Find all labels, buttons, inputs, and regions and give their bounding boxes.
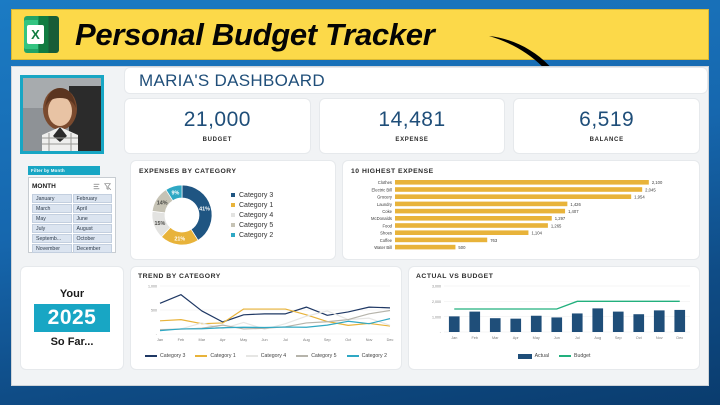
slicer-item-april[interactable]: April xyxy=(73,204,113,213)
legend-line xyxy=(195,355,207,357)
legend-line xyxy=(559,355,571,357)
svg-text:Mar: Mar xyxy=(492,336,499,340)
slicer-item-february[interactable]: February xyxy=(73,194,113,203)
combo-chart: -1,0002,0003,000JanFebMarAprMayJunJulAug… xyxy=(416,280,696,352)
legend-label: Category 4 xyxy=(239,212,273,219)
svg-text:21%: 21% xyxy=(174,237,185,243)
svg-text:2,100: 2,100 xyxy=(652,180,663,185)
kpi-label-budget: BUDGET xyxy=(203,137,233,143)
legend-label: Category 2 xyxy=(362,353,387,359)
slicer-item-january[interactable]: January xyxy=(32,194,72,203)
svg-text:3,000: 3,000 xyxy=(432,285,441,289)
legend-item-category-4: Category 4 xyxy=(231,212,273,219)
avb-legend: Actual Budget xyxy=(416,353,692,359)
kpi-value-balance: 6,519 xyxy=(579,109,634,130)
legend-swatch xyxy=(231,193,235,197)
legend-swatch xyxy=(231,213,235,217)
svg-text:May: May xyxy=(240,338,247,342)
svg-text:15%: 15% xyxy=(154,221,165,227)
kpi-label-expense: EXPENSE xyxy=(395,137,428,143)
legend-line xyxy=(296,355,308,357)
legend-label: Category 3 xyxy=(160,353,185,359)
legend-label: Category 1 xyxy=(210,353,235,359)
svg-text:14%: 14% xyxy=(157,201,168,207)
excel-icon: X xyxy=(24,16,59,53)
svg-text:Nov: Nov xyxy=(366,338,373,342)
kpi-value-expense: 14,481 xyxy=(378,109,445,130)
slicer-item-september[interactable]: Septemb... xyxy=(32,234,72,243)
svg-text:Laundry: Laundry xyxy=(377,202,393,207)
legend-item-category-3: Category 3 xyxy=(145,353,185,359)
legend-label: Category 1 xyxy=(239,202,273,209)
svg-text:Jul: Jul xyxy=(575,336,580,340)
svg-text:2,000: 2,000 xyxy=(432,300,441,304)
legend-item-category-5: Category 5 xyxy=(296,353,336,359)
legend-item-budget: Budget xyxy=(559,353,590,359)
slicer-item-november[interactable]: November xyxy=(32,244,72,253)
svg-text:1,297: 1,297 xyxy=(555,216,566,221)
kpi-label-balance: BALANCE xyxy=(590,137,624,143)
dashboard-sheet: MARIA'S DASHBOARD 21,000 BUDGET 14,481 E… xyxy=(11,66,709,386)
legend-label: Category 5 xyxy=(311,353,336,359)
trend-chart-title: TREND BY CATEGORY xyxy=(138,273,394,280)
svg-text:-: - xyxy=(440,331,442,335)
legend-swatch xyxy=(518,354,532,359)
kpi-card-budget: 21,000 BUDGET xyxy=(124,98,311,154)
svg-text:Coffee: Coffee xyxy=(380,238,393,243)
svg-text:Jan: Jan xyxy=(157,338,163,342)
svg-text:Jun: Jun xyxy=(554,336,560,340)
svg-text:Jun: Jun xyxy=(261,338,267,342)
svg-text:1,407: 1,407 xyxy=(568,209,579,214)
pie-chart-title: EXPENSES BY CATEGORY xyxy=(139,168,327,175)
slicer-header: MONTH xyxy=(32,181,112,192)
svg-text:1,104: 1,104 xyxy=(531,231,542,236)
svg-text:1,954: 1,954 xyxy=(634,195,645,200)
month-list[interactable]: January February March April May June Ju… xyxy=(32,194,112,253)
legend-label: Category 5 xyxy=(239,222,273,229)
svg-text:Grocery: Grocery xyxy=(377,195,393,200)
svg-text:Apr: Apr xyxy=(220,338,227,342)
slicer-item-october[interactable]: October xyxy=(73,234,113,243)
month-slicer-panel: Filter by Month MONTH January xyxy=(20,160,124,260)
svg-text:Oct: Oct xyxy=(636,336,643,340)
legend-swatch xyxy=(231,223,235,227)
svg-text:Aug: Aug xyxy=(303,338,310,342)
excel-icon-letter: X xyxy=(27,25,44,44)
slicer-title: MONTH xyxy=(32,183,90,190)
year-panel: Your 2025 So Far... xyxy=(20,266,124,370)
dashboard-title: MARIA'S DASHBOARD xyxy=(139,71,325,91)
legend-swatch xyxy=(231,233,235,237)
svg-text:Apr: Apr xyxy=(513,336,520,340)
legend-label: Actual xyxy=(535,353,549,359)
trend-by-category-chart: TREND BY CATEGORY -5001,000JanFebMarAprM… xyxy=(130,266,402,370)
legend-item-actual: Actual xyxy=(518,353,549,359)
svg-text:McDonalds: McDonalds xyxy=(371,216,392,221)
bar-chart-title: 10 HIGHEST EXPENSE xyxy=(351,168,691,175)
svg-text:763: 763 xyxy=(490,238,498,243)
legend-line xyxy=(347,355,359,357)
month-slicer[interactable]: MONTH January February March Apri xyxy=(28,177,116,253)
svg-text:Dec: Dec xyxy=(387,338,394,342)
svg-text:Sep: Sep xyxy=(615,336,622,340)
line-chart: -5001,000JanFebMarAprMayJunJulAugSepOctN… xyxy=(138,280,396,352)
legend-label: Category 4 xyxy=(261,353,286,359)
kpi-card-balance: 6,519 BALANCE xyxy=(513,98,700,154)
legend-item-category-5: Category 5 xyxy=(231,222,273,229)
svg-text:Jan: Jan xyxy=(451,336,457,340)
kpi-card-expense: 14,481 EXPENSE xyxy=(319,98,506,154)
legend-item-category-3: Category 3 xyxy=(231,192,273,199)
svg-text:Water Bill: Water Bill xyxy=(374,245,392,250)
actual-vs-budget-chart: ACTUAL VS BUDGET -1,0002,0003,000JanFebM… xyxy=(408,266,700,370)
legend-swatch xyxy=(231,203,235,207)
svg-text:-: - xyxy=(156,333,158,337)
legend-item-category-1: Category 1 xyxy=(195,353,235,359)
slicer-item-july[interactable]: July xyxy=(32,224,72,233)
svg-text:Sep: Sep xyxy=(324,338,331,342)
year-panel-bottom-text: So Far... xyxy=(51,336,94,348)
legend-label: Budget xyxy=(574,353,590,359)
svg-text:1,000: 1,000 xyxy=(148,285,157,289)
year-value: 2025 xyxy=(34,304,111,332)
svg-text:1,426: 1,426 xyxy=(570,202,581,207)
svg-text:Jul: Jul xyxy=(283,338,288,342)
svg-text:Feb: Feb xyxy=(471,336,478,340)
title-banner: X Personal Budget Tracker xyxy=(11,9,709,60)
dashboard-title-card: MARIA'S DASHBOARD xyxy=(124,67,708,94)
svg-text:500: 500 xyxy=(151,309,157,313)
page-title: Personal Budget Tracker xyxy=(75,17,435,53)
svg-text:500: 500 xyxy=(458,245,466,250)
svg-text:Electric Bill: Electric Bill xyxy=(372,187,393,192)
expenses-by-category-chart: EXPENSES BY CATEGORY 41%21%15%14%9% Cate… xyxy=(130,160,336,260)
svg-text:Nov: Nov xyxy=(656,336,663,340)
clear-filter-icon[interactable] xyxy=(103,182,112,191)
avb-chart-title: ACTUAL VS BUDGET xyxy=(416,273,692,280)
year-panel-top-text: Your xyxy=(60,288,84,300)
svg-text:Oct: Oct xyxy=(345,338,352,342)
svg-text:Dec: Dec xyxy=(676,336,683,340)
svg-text:9%: 9% xyxy=(172,191,180,197)
svg-text:Feb: Feb xyxy=(178,338,185,342)
slicer-item-may[interactable]: May xyxy=(32,214,72,223)
slicer-item-august[interactable]: August xyxy=(73,224,113,233)
pie-legend: Category 3 Category 1 Category 4 Categor… xyxy=(231,189,273,242)
slicer-item-june[interactable]: June xyxy=(73,214,113,223)
svg-text:41%: 41% xyxy=(199,207,210,213)
svg-text:Coke: Coke xyxy=(382,209,392,214)
dashboard-screenshot: X Personal Budget Tracker xyxy=(0,0,720,405)
svg-text:Clothes: Clothes xyxy=(378,180,392,185)
trend-legend: Category 3 Category 1 Category 4 Categor… xyxy=(138,353,394,359)
legend-item-category-2: Category 2 xyxy=(347,353,387,359)
svg-text:Aug: Aug xyxy=(594,336,601,340)
legend-item-category-2: Category 2 xyxy=(231,232,273,239)
legend-item-category-1: Category 1 xyxy=(231,202,273,209)
slicer-item-march[interactable]: March xyxy=(32,204,72,213)
filter-by-month-tag: Filter by Month xyxy=(28,166,100,175)
horizontal-bar-chart: Clothes2,100Electric Bill2,045Grocery1,9… xyxy=(351,175,703,255)
svg-text:2,045: 2,045 xyxy=(645,187,656,192)
svg-text:Mar: Mar xyxy=(199,338,206,342)
svg-text:Shoes: Shoes xyxy=(380,231,392,236)
donut-chart: 41%21%15%14%9% xyxy=(139,176,225,254)
svg-text:1,265: 1,265 xyxy=(551,223,562,228)
middle-band: Filter by Month MONTH January xyxy=(20,160,700,260)
svg-text:Food: Food xyxy=(382,223,392,228)
legend-item-category-4: Category 4 xyxy=(246,353,286,359)
kpi-row: 21,000 BUDGET 14,481 EXPENSE 6,519 BALAN… xyxy=(124,98,700,154)
svg-text:1,000: 1,000 xyxy=(432,315,441,319)
avatar xyxy=(20,75,104,154)
bottom-band: Your 2025 So Far... TREND BY CATEGORY -5… xyxy=(20,266,700,370)
kpi-value-budget: 21,000 xyxy=(184,109,251,130)
multi-select-icon[interactable] xyxy=(92,182,101,191)
legend-line xyxy=(246,355,258,357)
legend-line xyxy=(145,355,157,357)
svg-text:May: May xyxy=(533,336,540,340)
legend-label: Category 3 xyxy=(239,192,273,199)
slicer-item-december[interactable]: December xyxy=(73,244,113,253)
highest-expense-chart: 10 HIGHEST EXPENSE Clothes2,100Electric … xyxy=(342,160,700,260)
legend-label: Category 2 xyxy=(239,232,273,239)
